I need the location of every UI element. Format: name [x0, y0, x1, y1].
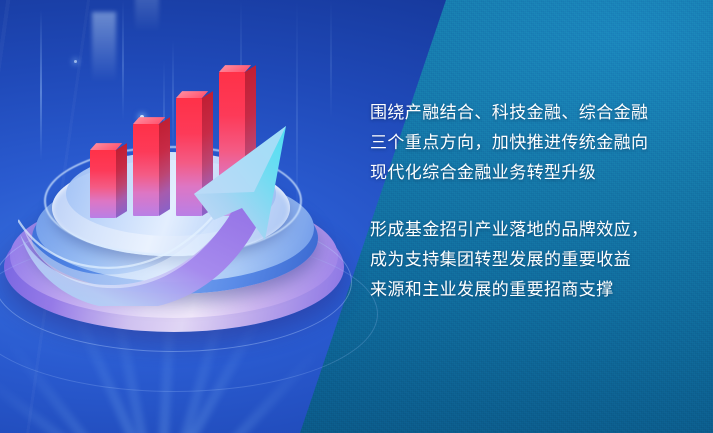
paragraph-1-line-2: 三个重点方向，加快推进传统金融向 — [370, 133, 648, 152]
copy-block: 围绕产融结合、科技金融、综合金融 三个重点方向，加快推进传统金融向 现代化综合金… — [370, 98, 690, 305]
chart-bar-side — [245, 65, 256, 216]
paragraph-2-line-1: 形成基金招引产业落地的品牌效应， — [370, 220, 648, 239]
paragraph-2-line-2: 成为支持集团转型发展的重要收益 — [370, 250, 631, 269]
chart-bar-face — [90, 150, 116, 218]
chart-bar-face — [219, 72, 245, 216]
chart-bar-side — [116, 143, 127, 218]
platform-halo-inner — [44, 146, 302, 256]
growth-chart-illustration — [8, 86, 338, 346]
infographic-banner: 围绕产融结合、科技金融、综合金融 三个重点方向，加快推进传统金融向 现代化综合金… — [0, 0, 713, 433]
chart-bar-face — [176, 98, 202, 216]
chart-bar-side — [202, 91, 213, 216]
sparkle-dot — [74, 60, 77, 63]
paragraph-1-line-1: 围绕产融结合、科技金融、综合金融 — [370, 103, 648, 122]
paragraph-2-line-3: 来源和主业发展的重要招商支撑 — [370, 280, 614, 299]
paragraph-1-line-3: 现代化综合金融业务转型升级 — [370, 163, 596, 182]
chart-bar-face — [133, 124, 159, 216]
paragraph-1: 围绕产融结合、科技金融、综合金融 三个重点方向，加快推进传统金融向 现代化综合金… — [370, 98, 690, 188]
paragraph-2: 形成基金招引产业落地的品牌效应， 成为支持集团转型发展的重要收益 来源和主业发展… — [370, 215, 690, 305]
chart-bar-side — [159, 117, 170, 216]
